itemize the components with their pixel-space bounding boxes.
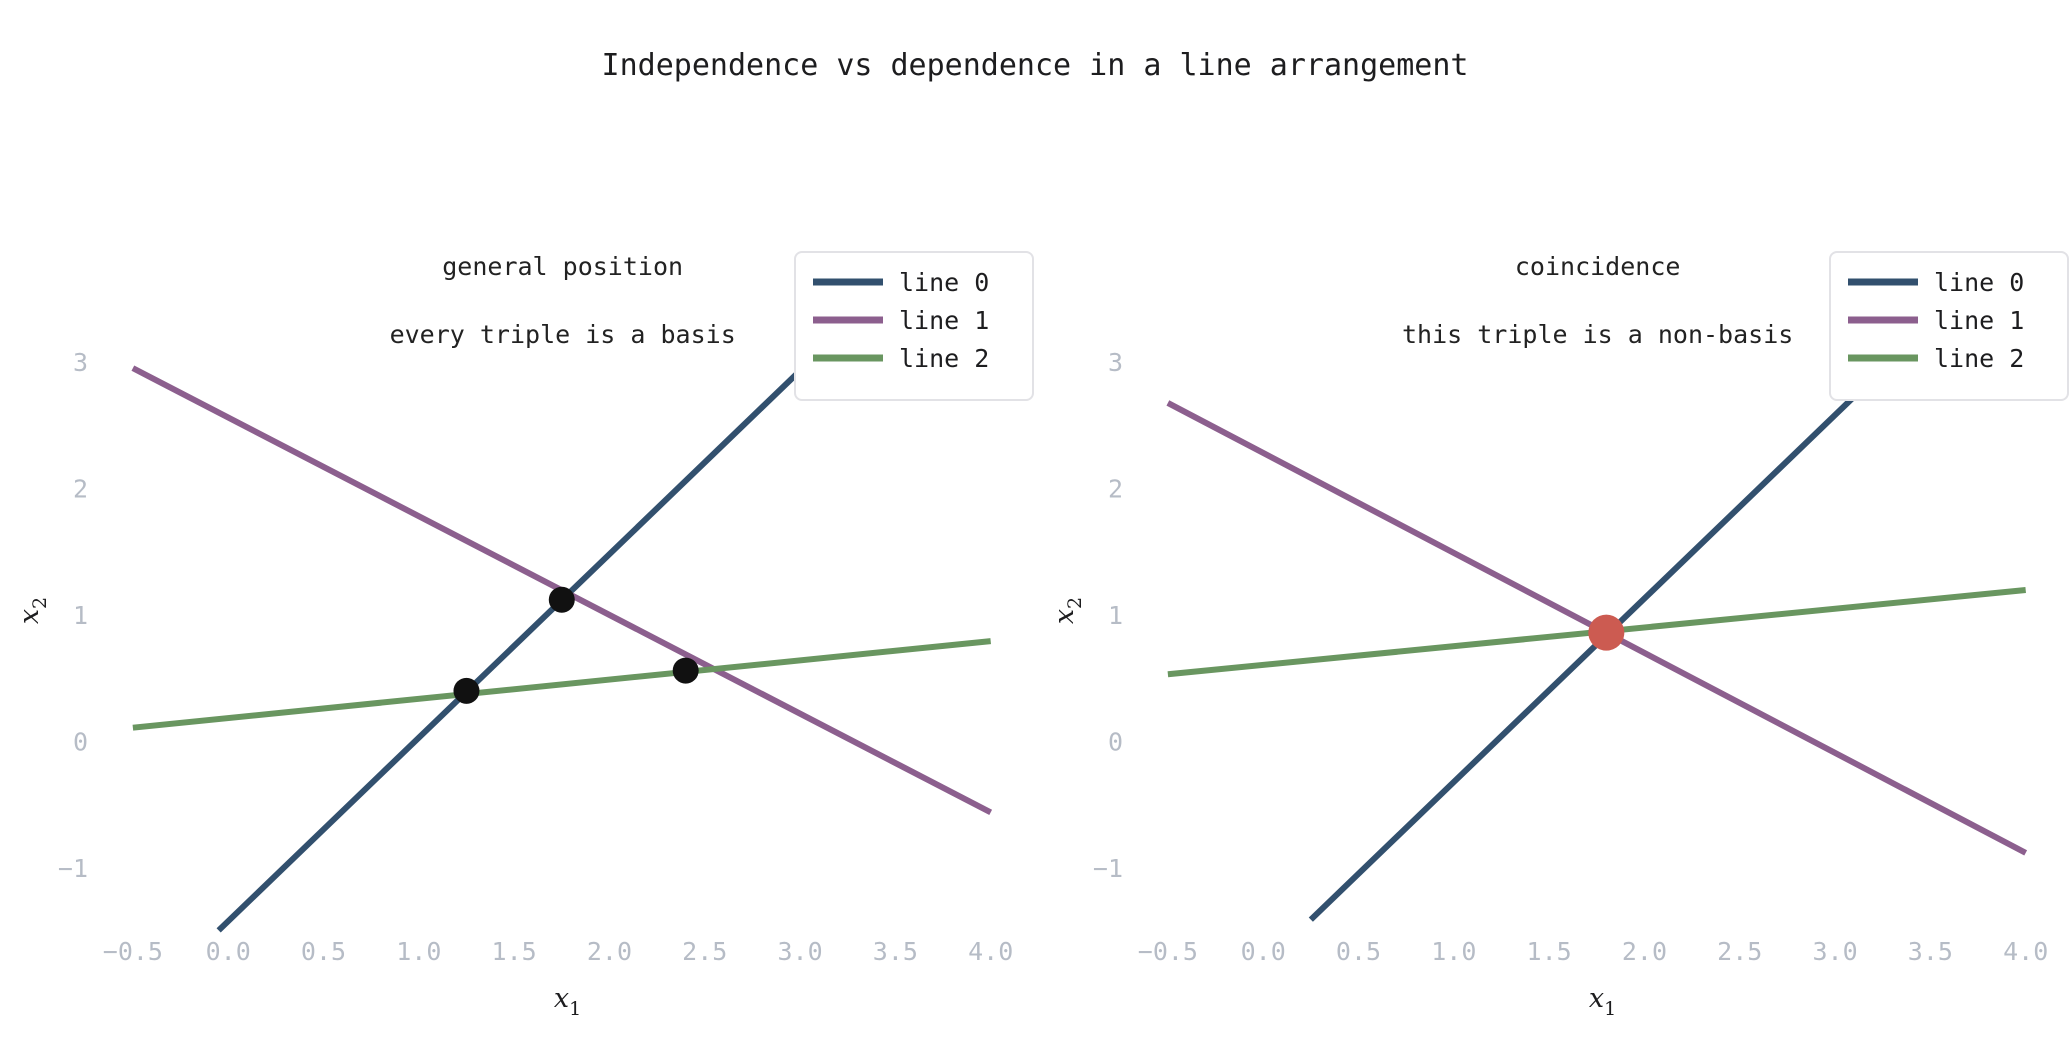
x-tick-label: 1.0 xyxy=(1431,937,1476,966)
x-tick-label: 3.5 xyxy=(873,937,918,966)
data-line-0[interactable] xyxy=(1311,314,1940,920)
panel-general-position: general position every triple is a basis… xyxy=(0,0,1035,1063)
intersection-markers xyxy=(1588,615,1624,651)
plot-area-0[interactable]: −0.50.00.51.01.52.02.53.03.54.0−10123x1x… xyxy=(0,0,1035,1063)
y-tick-label: −1 xyxy=(58,854,88,883)
y-axis-label: x2 xyxy=(14,597,51,624)
plot-area-1[interactable]: −0.50.00.51.01.52.02.53.03.54.0−10123x1x… xyxy=(1035,0,2070,1063)
data-line-2[interactable] xyxy=(133,641,991,728)
legend: line 0line 1line 2 xyxy=(1830,252,2068,400)
y-tick-label: 1 xyxy=(73,601,88,630)
y-tick-label: 3 xyxy=(73,348,88,377)
panel-coincidence: coincidence this triple is a non-basis −… xyxy=(1035,0,2070,1063)
x-tick-label: 1.0 xyxy=(396,937,441,966)
y-tick-label: 2 xyxy=(1108,474,1123,503)
y-tick-label: 2 xyxy=(73,474,88,503)
x-tick-label: 1.5 xyxy=(1527,937,1572,966)
y-tick-label: 1 xyxy=(1108,601,1123,630)
x-tick-label: 4.0 xyxy=(2003,937,2048,966)
x-tick-label: 0.0 xyxy=(206,937,251,966)
x-tick-label: 2.0 xyxy=(1622,937,1667,966)
x-tick-label: 3.0 xyxy=(1812,937,1857,966)
legend-label-line-2: line 2 xyxy=(1934,344,2024,373)
x-tick-label: 2.0 xyxy=(587,937,632,966)
legend-label-line-2: line 2 xyxy=(899,344,989,373)
x-tick-label: 0.5 xyxy=(301,937,346,966)
x-tick-labels: −0.50.00.51.01.52.02.53.03.54.0 xyxy=(103,937,1014,966)
intersection-marker[interactable] xyxy=(453,678,479,704)
y-axis-label: x2 xyxy=(1049,597,1086,624)
legend-label-line-0: line 0 xyxy=(1934,268,2024,297)
x-tick-label: 2.5 xyxy=(1717,937,1762,966)
figure-canvas: Independence vs dependence in a line arr… xyxy=(0,0,2070,1063)
y-tick-label: −1 xyxy=(1093,854,1123,883)
x-tick-label: 4.0 xyxy=(968,937,1013,966)
data-line-0[interactable] xyxy=(219,306,867,930)
data-lines xyxy=(1168,314,2026,920)
intersection-marker[interactable] xyxy=(1588,615,1624,651)
legend-label-line-1: line 1 xyxy=(1934,306,2024,335)
x-tick-label: 2.5 xyxy=(682,937,727,966)
y-tick-label: 3 xyxy=(1108,348,1123,377)
y-tick-label: 0 xyxy=(73,727,88,756)
intersection-marker[interactable] xyxy=(673,658,699,684)
y-tick-labels: −10123 xyxy=(58,348,88,883)
x-tick-label: 3.0 xyxy=(777,937,822,966)
x-tick-label: 0.0 xyxy=(1241,937,1286,966)
legend-label-line-0: line 0 xyxy=(899,268,989,297)
x-tick-label: 0.5 xyxy=(1336,937,1381,966)
x-tick-label: −0.5 xyxy=(1138,937,1198,966)
x-tick-label: −0.5 xyxy=(103,937,163,966)
x-tick-label: 3.5 xyxy=(1908,937,1953,966)
legend: line 0line 1line 2 xyxy=(795,252,1033,400)
x-axis-label: x1 xyxy=(1589,983,1616,1020)
x-axis-label: x1 xyxy=(554,983,581,1020)
intersection-marker[interactable] xyxy=(549,587,575,613)
legend-label-line-1: line 1 xyxy=(899,306,989,335)
x-tick-label: 1.5 xyxy=(492,937,537,966)
x-tick-labels: −0.50.00.51.01.52.02.53.03.54.0 xyxy=(1138,937,2049,966)
y-tick-labels: −10123 xyxy=(1093,348,1123,883)
y-tick-label: 0 xyxy=(1108,727,1123,756)
